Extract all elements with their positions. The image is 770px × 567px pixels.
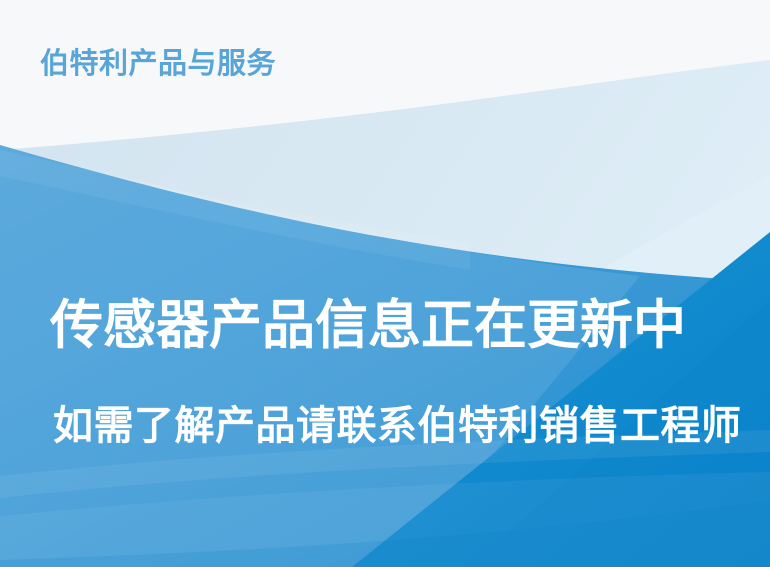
decorative-wave-background [0,0,770,567]
product-service-banner: 伯特利产品与服务 传感器产品信息正在更新中 如需了解产品请联系伯特利销售工程师 [0,0,770,567]
